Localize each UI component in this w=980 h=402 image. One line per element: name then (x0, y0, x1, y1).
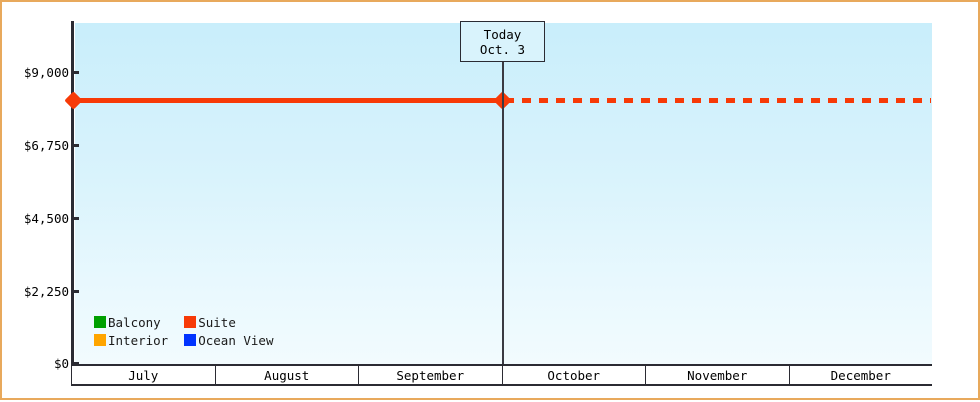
legend-item-balcony[interactable]: Balcony (94, 314, 168, 330)
y-tick-4500 (71, 217, 79, 220)
x-axis-month-december[interactable]: December (790, 366, 933, 384)
chart-widget: $9,000 $6,750 $4,500 $2,250 $0 Today Oct… (0, 0, 980, 400)
legend-label: Balcony (108, 315, 161, 330)
y-axis-tick-label: $4,500 (5, 211, 69, 226)
y-tick-9000 (71, 71, 79, 74)
y-axis-tick-label: $9,000 (5, 65, 69, 80)
y-axis-tick-label: $0 (5, 356, 69, 371)
y-axis-tick-label: $6,750 (5, 138, 69, 153)
x-axis-month-november[interactable]: November (646, 366, 790, 384)
legend-item-suite[interactable]: Suite (184, 314, 273, 330)
y-axis-labels: $9,000 $6,750 $4,500 $2,250 $0 (2, 2, 69, 402)
series-suite-forecast-line (505, 98, 931, 103)
legend-swatch-icon (184, 316, 196, 328)
x-axis-month-table: July August September October November D… (71, 364, 932, 386)
today-callout-box[interactable]: Today Oct. 3 (460, 21, 545, 62)
x-axis-month-august[interactable]: August (216, 366, 360, 384)
x-axis-month-september[interactable]: September (359, 366, 503, 384)
today-callout-line2: Oct. 3 (480, 42, 525, 57)
legend-swatch-icon (94, 334, 106, 346)
legend-item-interior[interactable]: Interior (94, 332, 168, 348)
y-axis-tick-label: $2,250 (5, 284, 69, 299)
y-tick-2250 (71, 290, 79, 293)
series-suite-actual-line (73, 98, 503, 103)
today-callout-line1: Today (484, 27, 522, 42)
legend-label: Suite (198, 315, 236, 330)
legend-label: Interior (108, 333, 168, 348)
y-tick-6750 (71, 144, 79, 147)
legend-swatch-icon (184, 334, 196, 346)
x-axis-month-july[interactable]: July (71, 366, 216, 384)
legend-label: Ocean View (198, 333, 273, 348)
legend-item-ocean-view[interactable]: Ocean View (184, 332, 273, 348)
x-axis-month-october[interactable]: October (503, 366, 647, 384)
today-vertical-line (502, 50, 504, 364)
legend: Balcony Suite Interior Ocean View (94, 314, 273, 348)
legend-swatch-icon (94, 316, 106, 328)
